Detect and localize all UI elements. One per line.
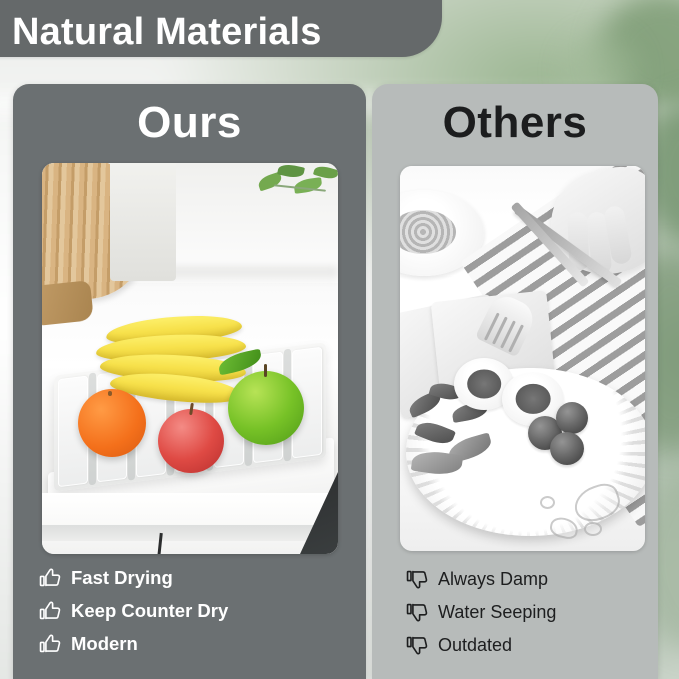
list-item-label: Always Damp (438, 570, 548, 588)
list-item-label: Keep Counter Dry (71, 602, 228, 621)
list-item: Modern (13, 628, 366, 661)
list-item-label: Water Seeping (438, 603, 556, 621)
list-item-label: Modern (71, 635, 138, 654)
wet-towel-breakfast-photo (400, 166, 645, 551)
water-puddle (584, 522, 602, 536)
list-item-label: Outdated (438, 636, 512, 654)
list-item: Water Seeping (372, 595, 658, 628)
water-puddle (540, 496, 555, 509)
panel-others: Others (372, 84, 658, 679)
list-item: Outdated (372, 628, 658, 661)
comparison-panels: Ours (0, 0, 679, 679)
panel-ours: Ours (13, 84, 366, 679)
list-item: Keep Counter Dry (13, 595, 366, 628)
tomato (550, 432, 584, 465)
green-apple (228, 371, 304, 445)
red-apple (158, 409, 224, 473)
fruit-on-drying-mat-photo (42, 163, 338, 554)
panel-others-title: Others (372, 84, 658, 162)
list-item: Fast Drying (13, 562, 366, 595)
list-item-label: Fast Drying (71, 569, 173, 588)
leaf-sprig-decor (256, 163, 338, 203)
thumbs-down-icon (406, 633, 429, 656)
panel-ours-title: Ours (13, 84, 366, 162)
orange-fruit (78, 389, 146, 457)
list-item: Always Damp (372, 562, 658, 595)
infographic-canvas: Natural Materials Ours (0, 0, 679, 679)
thumbs-down-icon (406, 567, 429, 590)
thumbs-down-icon (406, 600, 429, 623)
thumbs-up-icon (39, 600, 62, 623)
thumbs-up-icon (39, 633, 62, 656)
page-title: Natural Materials (0, 13, 322, 57)
egg-half (502, 372, 564, 426)
header-banner: Natural Materials (0, 0, 442, 57)
tomato (556, 402, 588, 434)
ours-feature-list: Fast Drying Keep Counter Dry (13, 562, 366, 679)
others-drawback-list: Always Damp Water Seeping (372, 562, 658, 679)
thumbs-up-icon (39, 567, 62, 590)
